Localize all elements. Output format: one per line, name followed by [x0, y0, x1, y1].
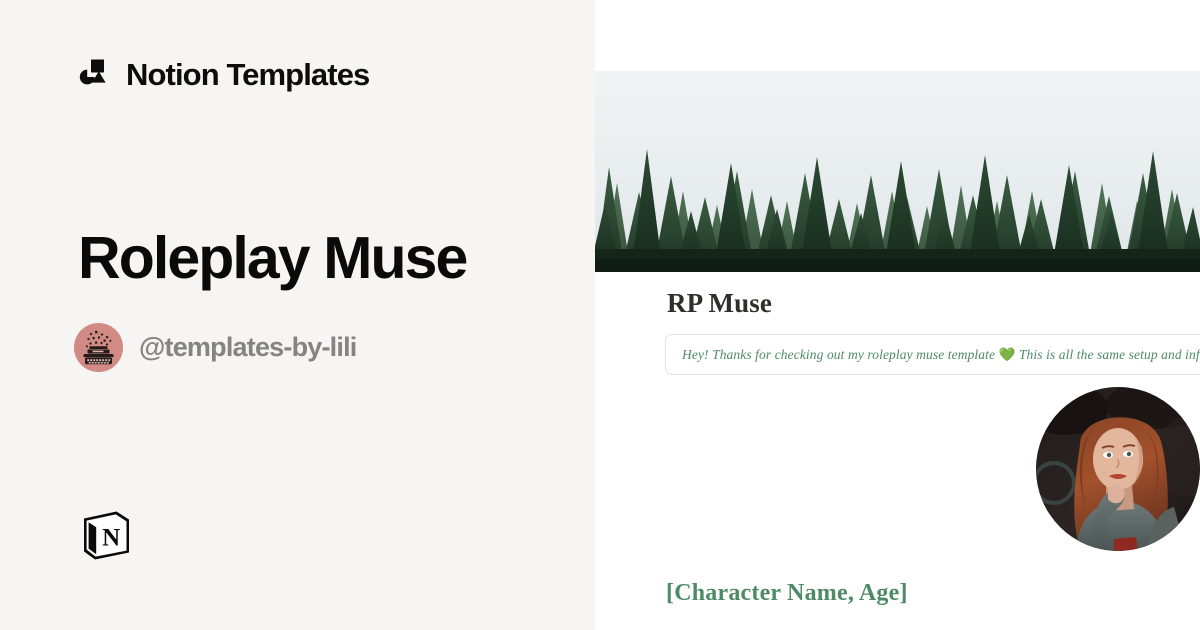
character-portrait-image	[1036, 387, 1200, 551]
page-title: Roleplay Muse	[78, 228, 466, 290]
author-row[interactable]: @templates-by-lili	[74, 323, 356, 372]
template-preview-panel: RP Muse Hey! Thanks for checking out my …	[595, 0, 1200, 630]
brand-title: Notion Templates	[126, 59, 369, 90]
svg-text:N: N	[102, 525, 120, 552]
green-heart-icon: 💚	[999, 347, 1016, 362]
character-name-heading: [Character Name, Age]	[666, 580, 908, 607]
brand-header: Notion Templates	[78, 57, 369, 91]
document-title: RP Muse	[667, 288, 772, 319]
callout-block: Hey! Thanks for checking out my roleplay…	[665, 334, 1200, 375]
callout-text: Hey! Thanks for checking out my roleplay…	[682, 347, 1200, 363]
social-preview-card: Notion Templates Roleplay Muse	[0, 0, 1200, 630]
callout-text-before: Hey! Thanks for checking out my roleplay…	[682, 347, 999, 362]
callout-text-after: This is all the same setup and informati…	[1015, 347, 1200, 362]
cover-image-pine-forest	[595, 71, 1200, 272]
notion-templates-logo-icon	[78, 57, 112, 91]
author-handle[interactable]: @templates-by-lili	[139, 332, 356, 363]
left-info-panel: Notion Templates Roleplay Muse	[0, 0, 595, 630]
author-avatar-typewriter[interactable]	[74, 323, 123, 372]
notion-cube-logo-icon: N	[76, 505, 136, 565]
